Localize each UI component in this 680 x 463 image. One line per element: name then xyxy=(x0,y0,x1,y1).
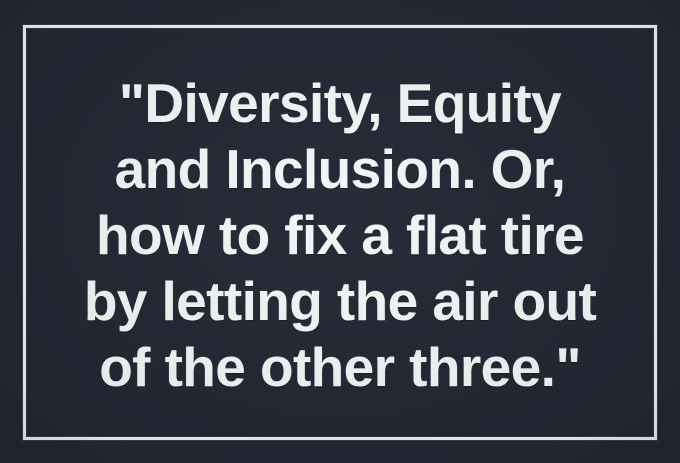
quote-line-3: how to fix a flat tire xyxy=(44,202,636,268)
quote-line-5: of the other three." xyxy=(44,334,636,400)
quote-line-1: "Diversity, Equity xyxy=(44,70,636,136)
quote-line-4: by letting the air out xyxy=(44,268,636,334)
quote-card-canvas: "Diversity, Equity and Inclusion. Or, ho… xyxy=(0,0,680,463)
quote-card-frame: "Diversity, Equity and Inclusion. Or, ho… xyxy=(23,25,657,440)
quote-line-2: and Inclusion. Or, xyxy=(44,136,636,202)
quote-text-block: "Diversity, Equity and Inclusion. Or, ho… xyxy=(26,70,654,403)
